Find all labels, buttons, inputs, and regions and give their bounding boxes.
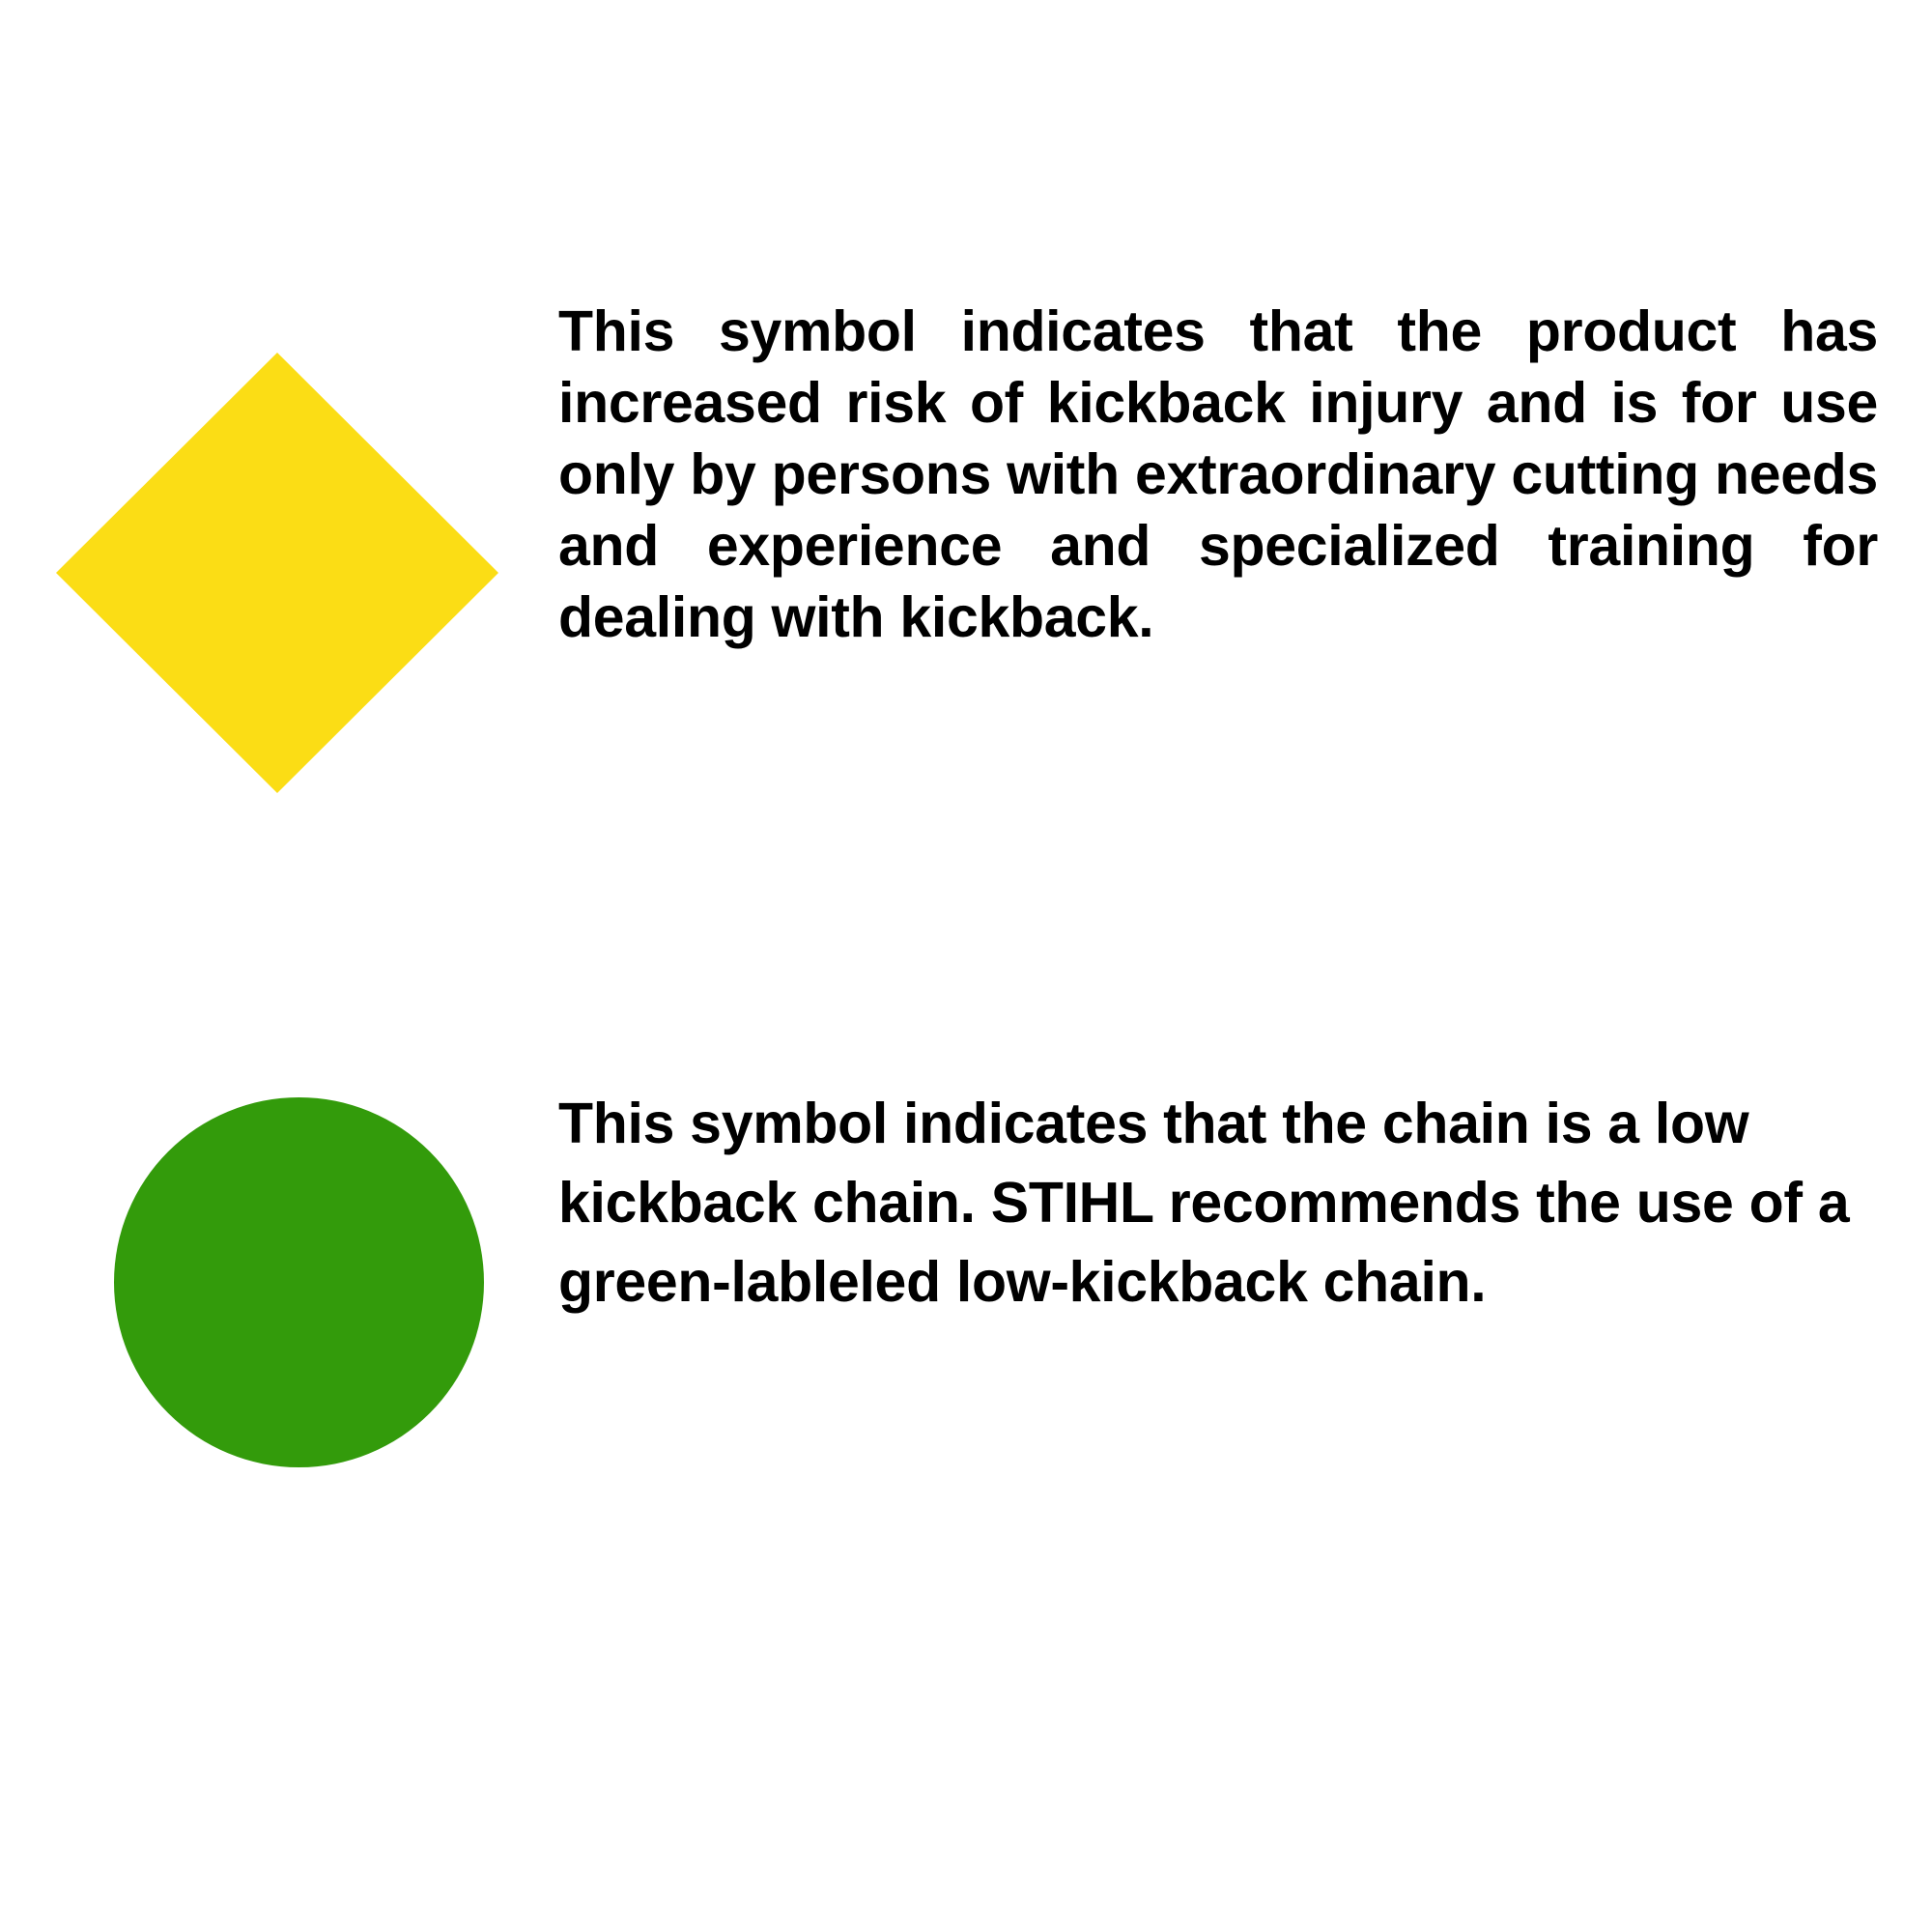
- circle-icon: [114, 1097, 484, 1467]
- yellow-diamond-symbol: [56, 353, 498, 793]
- diamond-icon: [56, 353, 498, 793]
- low-kickback-paragraph: This symbol indicates that the chain is …: [558, 1084, 1891, 1321]
- legend-row-low-kickback: This symbol indicates that the chain is …: [0, 869, 1932, 1642]
- legend-row-kickback-warning: This symbol indicates that the product h…: [0, 0, 1932, 869]
- low-kickback-text: This symbol indicates that the chain is …: [558, 1084, 1891, 1321]
- symbol-legend-page: This symbol indicates that the product h…: [0, 0, 1932, 1932]
- kickback-warning-paragraph: This symbol indicates that the product h…: [558, 296, 1878, 653]
- green-circle-symbol: [114, 1097, 484, 1467]
- kickback-warning-text: This symbol indicates that the product h…: [558, 296, 1878, 653]
